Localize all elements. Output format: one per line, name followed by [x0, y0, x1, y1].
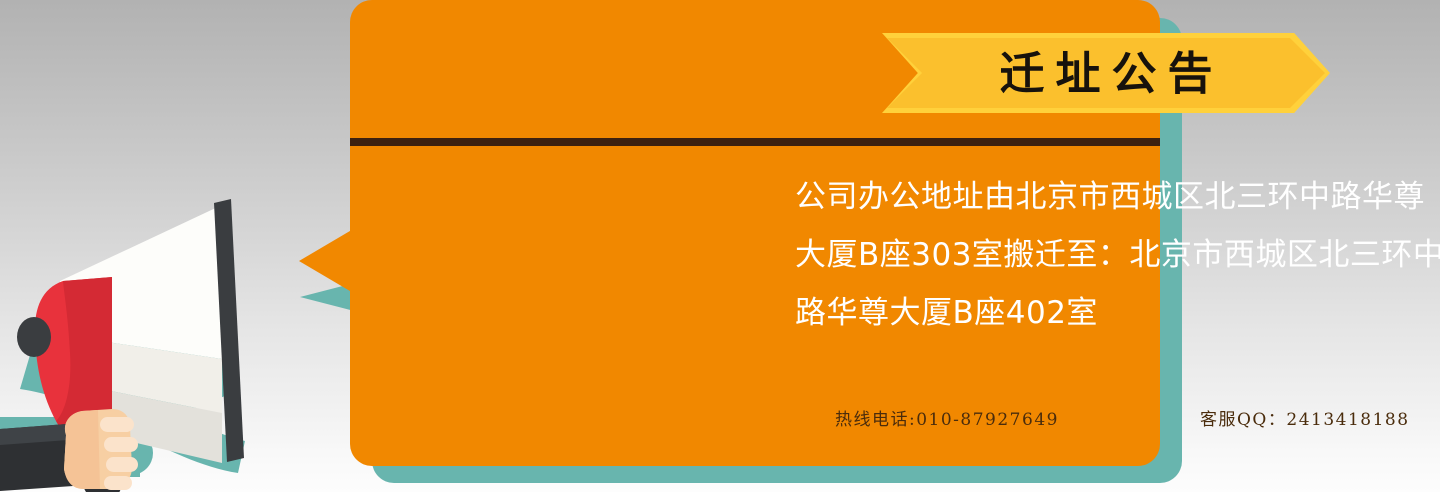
announcement-card: 迁址公告 公司办公地址由北京市西城区北三环中路华尊大厦B座303室搬迁至：北京市…	[350, 0, 1160, 466]
service-qq: 客服QQ：2413418188	[1200, 405, 1410, 430]
hotline-phone: 热线电话:010-87927649	[835, 405, 1059, 430]
card-divider	[350, 138, 1160, 146]
page-title: 迁址公告	[882, 33, 1330, 113]
announcement-banner: 迁址公告 公司办公地址由北京市西城区北三环中路华尊大厦B座303室搬迁至：北京市…	[0, 0, 1440, 492]
contact-footer: 热线电话:010-87927649 客服QQ：2413418188	[795, 405, 1440, 439]
announcement-body-text: 公司办公地址由北京市西城区北三环中路华尊大厦B座303室搬迁至：北京市西城区北三…	[795, 168, 1440, 342]
title-ribbon: 迁址公告	[882, 33, 1330, 113]
hand	[64, 409, 138, 490]
megaphone-illustration	[0, 185, 300, 492]
bubble-tail	[299, 228, 355, 294]
